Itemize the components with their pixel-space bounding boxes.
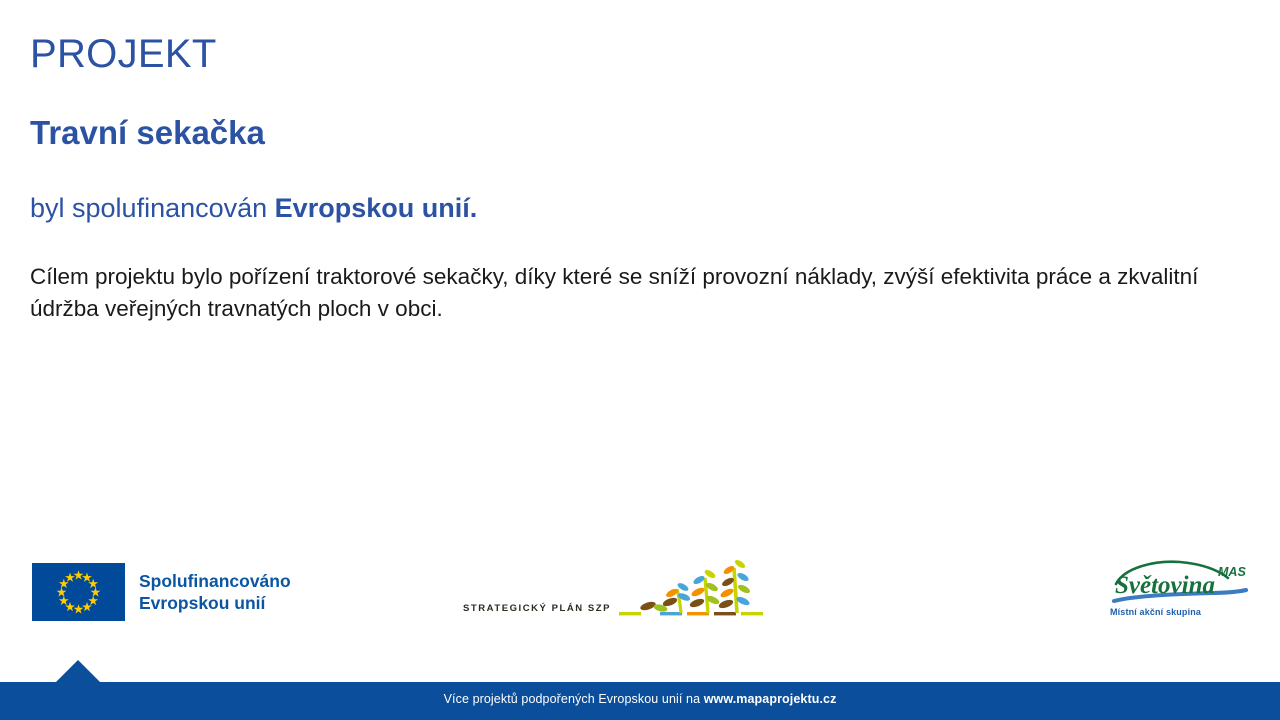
growing-plants-icon [617, 556, 765, 622]
eu-caption-line-2: Evropskou unií [139, 592, 291, 614]
bottom-bar-text: Více projektů podpořených Evropskou unií… [0, 692, 1280, 706]
mas-subtitle: Místní akční skupina [1110, 607, 1260, 617]
eu-cofunded-logo: Spolufinancováno Evropskou unií [32, 563, 291, 621]
slide-canvas: PROJEKT Travní sekačka byl spolufinancov… [0, 0, 1280, 720]
bar-chevron-icon [56, 660, 100, 682]
mas-svetovina-logo-icon: Světovina MAS [1110, 560, 1255, 606]
bottom-bar-url[interactable]: www.mapaprojektu.cz [704, 692, 837, 706]
eu-logo-caption: Spolufinancováno Evropskou unií [139, 570, 291, 614]
cofinance-emphasis: Evropskou unií. [275, 193, 478, 223]
svg-text:MAS: MAS [1218, 565, 1246, 579]
mas-svetovina-logo: Světovina MAS Místní akční skupina [1110, 560, 1260, 617]
cofinance-line: byl spolufinancován Evropskou unií. [30, 193, 477, 224]
page-title: Travní sekačka [30, 115, 265, 151]
svg-text:Světovina: Světovina [1115, 572, 1215, 599]
cofinance-prefix: byl spolufinancován [30, 193, 275, 223]
eu-caption-line-1: Spolufinancováno [139, 570, 291, 592]
kicker-label: PROJEKT [30, 33, 217, 75]
szp-strategic-plan-logo: STRATEGICKÝ PLÁN SZP [463, 556, 765, 622]
szp-label: STRATEGICKÝ PLÁN SZP [463, 603, 611, 622]
body-paragraph: Cílem projektu bylo pořízení traktorové … [30, 261, 1255, 325]
bottom-bar-prefix: Více projektů podpořených Evropskou unií… [444, 692, 704, 706]
eu-flag-icon [32, 563, 125, 621]
